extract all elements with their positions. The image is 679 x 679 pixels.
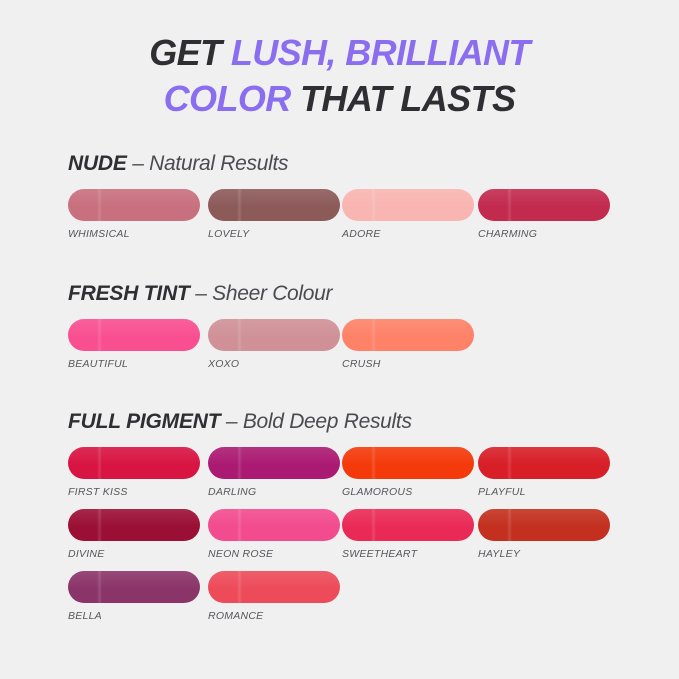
swatch-label-hayley: HAYLEY	[478, 548, 610, 560]
swatch-label-charming: CHARMING	[478, 228, 610, 240]
title-get: GET	[149, 32, 231, 73]
swatch-color-adore[interactable]	[342, 189, 474, 221]
swatch-row: WHIMSICAL LOVELY ADORE CHARMING	[68, 189, 288, 251]
swatch-row: BEAUTIFUL XOXO CRUSH	[68, 319, 332, 381]
section-full-pigment: FULL PIGMENT – Bold Deep Results FIRST K…	[68, 410, 412, 633]
swatch-cell-playful[interactable]: PLAYFUL	[478, 447, 610, 498]
swatch-cell-lovely[interactable]: LOVELY	[208, 189, 340, 240]
swatch-row: BELLA ROMANCE	[68, 571, 412, 633]
swatch-color-darling[interactable]	[208, 447, 340, 479]
swatch-color-divine[interactable]	[68, 509, 200, 541]
swatch-cell-crush[interactable]: CRUSH	[342, 319, 474, 370]
swatch-color-neon-rose[interactable]	[208, 509, 340, 541]
swatch-label-darling: DARLING	[208, 486, 340, 498]
swatch-label-neon-rose: NEON ROSE	[208, 548, 340, 560]
section-nude-subtitle: – Natural Results	[127, 152, 289, 175]
swatch-color-xoxo[interactable]	[208, 319, 340, 351]
swatch-label-bella: BELLA	[68, 610, 200, 622]
swatch-label-divine: DIVINE	[68, 548, 200, 560]
swatch-color-whimsical[interactable]	[68, 189, 200, 221]
swatch-label-adore: ADORE	[342, 228, 474, 240]
swatch-grid-fresh-tint: BEAUTIFUL XOXO CRUSH	[68, 319, 332, 381]
swatch-grid-nude: WHIMSICAL LOVELY ADORE CHARMING	[68, 189, 288, 251]
swatch-cell-neon-rose[interactable]: NEON ROSE	[208, 509, 340, 560]
title-that-lasts: THAT LASTS	[300, 78, 515, 119]
swatch-label-romance: ROMANCE	[208, 610, 340, 622]
swatch-label-whimsical: WHIMSICAL	[68, 228, 200, 240]
section-nude: NUDE – Natural Results WHIMSICAL LOVELY …	[68, 152, 288, 251]
swatch-color-charming[interactable]	[478, 189, 610, 221]
title-line-2: COLOR THAT LASTS	[0, 76, 679, 122]
title-line-1: GET LUSH, BRILLIANT	[0, 30, 679, 76]
swatch-cell-whimsical[interactable]: WHIMSICAL	[68, 189, 200, 240]
swatch-cell-bella[interactable]: BELLA	[68, 571, 200, 622]
swatch-grid-full-pigment: FIRST KISS DARLING GLAMOROUS PLAYFUL	[68, 447, 412, 633]
swatch-color-first-kiss[interactable]	[68, 447, 200, 479]
title-color: COLOR	[164, 78, 300, 119]
swatch-label-glamorous: GLAMOROUS	[342, 486, 474, 498]
swatch-label-lovely: LOVELY	[208, 228, 340, 240]
swatch-cell-sweetheart[interactable]: SWEETHEART	[342, 509, 474, 560]
section-nude-title: NUDE	[68, 152, 127, 175]
section-fresh-tint-heading: FRESH TINT – Sheer Colour	[68, 282, 332, 306]
title-lush-brilliant: LUSH, BRILLIANT	[231, 32, 530, 73]
swatch-color-bella[interactable]	[68, 571, 200, 603]
swatch-cell-divine[interactable]: DIVINE	[68, 509, 200, 560]
page-title: GET LUSH, BRILLIANT COLOR THAT LASTS	[0, 30, 679, 122]
section-fresh-tint: FRESH TINT – Sheer Colour BEAUTIFUL XOXO…	[68, 282, 332, 381]
swatch-cell-adore[interactable]: ADORE	[342, 189, 474, 240]
section-full-pigment-heading: FULL PIGMENT – Bold Deep Results	[68, 410, 412, 434]
swatch-label-crush: CRUSH	[342, 358, 474, 370]
swatch-color-lovely[interactable]	[208, 189, 340, 221]
swatch-cell-hayley[interactable]: HAYLEY	[478, 509, 610, 560]
lipstick-shade-chart: GET LUSH, BRILLIANT COLOR THAT LASTS NUD…	[0, 0, 679, 679]
swatch-color-hayley[interactable]	[478, 509, 610, 541]
swatch-color-romance[interactable]	[208, 571, 340, 603]
swatch-cell-xoxo[interactable]: XOXO	[208, 319, 340, 370]
swatch-row: DIVINE NEON ROSE SWEETHEART HAYLEY	[68, 509, 412, 571]
swatch-label-sweetheart: SWEETHEART	[342, 548, 474, 560]
swatch-color-crush[interactable]	[342, 319, 474, 351]
swatch-color-glamorous[interactable]	[342, 447, 474, 479]
swatch-color-beautiful[interactable]	[68, 319, 200, 351]
swatch-cell-first-kiss[interactable]: FIRST KISS	[68, 447, 200, 498]
section-full-pigment-title: FULL PIGMENT	[68, 410, 220, 433]
swatch-label-playful: PLAYFUL	[478, 486, 610, 498]
swatch-cell-darling[interactable]: DARLING	[208, 447, 340, 498]
swatch-cell-charming[interactable]: CHARMING	[478, 189, 610, 240]
swatch-label-first-kiss: FIRST KISS	[68, 486, 200, 498]
swatch-color-sweetheart[interactable]	[342, 509, 474, 541]
section-fresh-tint-title: FRESH TINT	[68, 282, 190, 305]
section-full-pigment-subtitle: – Bold Deep Results	[220, 410, 411, 433]
swatch-cell-beautiful[interactable]: BEAUTIFUL	[68, 319, 200, 370]
swatch-label-beautiful: BEAUTIFUL	[68, 358, 200, 370]
swatch-color-playful[interactable]	[478, 447, 610, 479]
swatch-label-xoxo: XOXO	[208, 358, 340, 370]
swatch-cell-romance[interactable]: ROMANCE	[208, 571, 340, 622]
swatch-row: FIRST KISS DARLING GLAMOROUS PLAYFUL	[68, 447, 412, 509]
swatch-cell-glamorous[interactable]: GLAMOROUS	[342, 447, 474, 498]
section-nude-heading: NUDE – Natural Results	[68, 152, 288, 176]
section-fresh-tint-subtitle: – Sheer Colour	[190, 282, 333, 305]
